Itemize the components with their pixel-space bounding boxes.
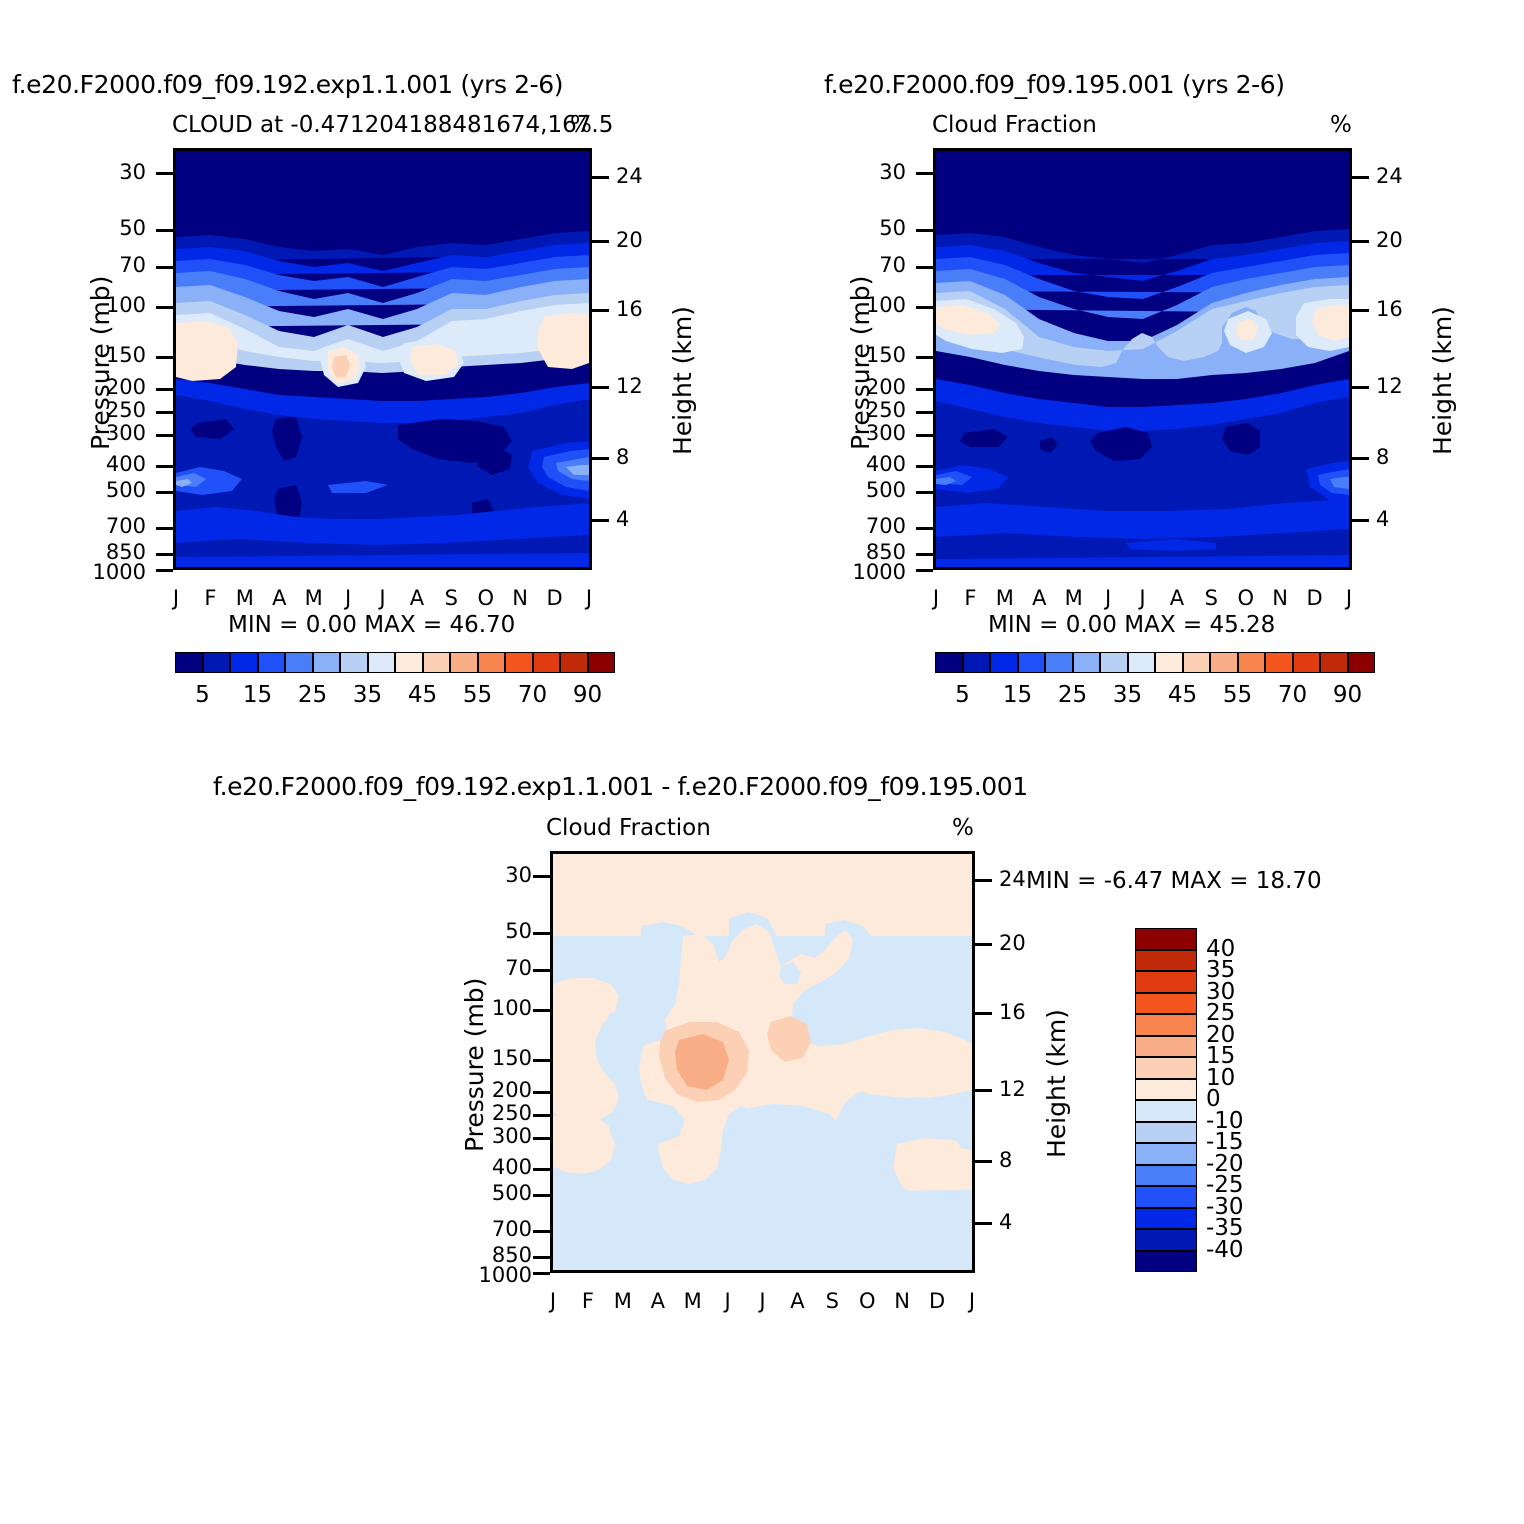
colorbar-swatch <box>1135 950 1197 972</box>
diff-plot-area <box>550 851 975 1273</box>
colorbar-swatch <box>313 652 341 673</box>
colorbar-swatch <box>423 652 451 673</box>
diff-panel-title: f.e20.F2000.f09_f09.192.exp1.1.001 - f.e… <box>213 772 1028 801</box>
month-label: S <box>818 1289 846 1313</box>
colorbar-swatch <box>1073 652 1101 673</box>
colorbar-tick-label: 25 <box>289 682 337 708</box>
left-y2label: Height (km) <box>668 306 697 455</box>
month-label: F <box>574 1289 602 1313</box>
colorbar-swatch <box>1128 652 1156 673</box>
colorbar-tick-label: 90 <box>1324 682 1372 708</box>
colorbar-swatch <box>1135 1036 1197 1058</box>
month-label: J <box>369 586 397 610</box>
colorbar-tick-label: -40 <box>1206 1237 1244 1263</box>
colorbar-tick-label: 15 <box>234 682 282 708</box>
month-label: N <box>888 1289 916 1313</box>
month-label: J <box>1129 586 1157 610</box>
colorbar-swatch <box>1135 1208 1197 1230</box>
colorbar-swatch <box>1320 652 1348 673</box>
diff-minmax: MIN = -6.47 MAX = 18.70 <box>1026 868 1322 894</box>
colorbar-swatch <box>1135 1186 1197 1208</box>
month-label: A <box>1025 586 1053 610</box>
month-label: M <box>679 1289 707 1313</box>
colorbar-swatch <box>1135 971 1197 993</box>
month-label: M <box>300 586 328 610</box>
month-label: A <box>403 586 431 610</box>
month-label: J <box>162 586 190 610</box>
left-panel-units: % <box>570 112 592 138</box>
month-label: J <box>958 1289 986 1313</box>
month-label: N <box>1266 586 1294 610</box>
right-panel-units: % <box>1330 112 1352 138</box>
colorbar-swatch <box>1155 652 1183 673</box>
colorbar-swatch <box>203 652 231 673</box>
colorbar-tick-label: 45 <box>1159 682 1207 708</box>
month-label: D <box>541 586 569 610</box>
colorbar-swatch <box>1135 1229 1197 1251</box>
colorbar-swatch <box>1238 652 1266 673</box>
colorbar-swatch <box>963 652 991 673</box>
colorbar-swatch <box>230 652 258 673</box>
colorbar-tick-label: 5 <box>179 682 227 708</box>
month-label: D <box>1301 586 1329 610</box>
colorbar-swatch <box>1135 1122 1197 1144</box>
month-label: A <box>783 1289 811 1313</box>
month-label: O <box>1232 586 1260 610</box>
diff-colorbar <box>1135 928 1197 1272</box>
colorbar-tick-label: 45 <box>399 682 447 708</box>
month-label: J <box>714 1289 742 1313</box>
colorbar-tick-label: 70 <box>1269 682 1317 708</box>
diff-panel-subtitle: Cloud Fraction <box>546 815 711 841</box>
colorbar-swatch <box>1135 1100 1197 1122</box>
month-label: O <box>853 1289 881 1313</box>
colorbar-swatch <box>1045 652 1073 673</box>
diff-panel-units: % <box>952 815 974 841</box>
left-colorbar <box>175 652 615 673</box>
left-minmax: MIN = 0.00 MAX = 46.70 <box>228 612 515 638</box>
colorbar-swatch <box>1135 993 1197 1015</box>
month-label: N <box>506 586 534 610</box>
colorbar-swatch <box>1135 1143 1197 1165</box>
colorbar-swatch <box>478 652 506 673</box>
colorbar-swatch <box>450 652 478 673</box>
colorbar-swatch <box>1265 652 1293 673</box>
colorbar-swatch <box>1135 1251 1197 1273</box>
colorbar-swatch <box>935 652 963 673</box>
colorbar-swatch <box>395 652 423 673</box>
colorbar-swatch <box>533 652 561 673</box>
right-panel-title: f.e20.F2000.f09_f09.195.001 (yrs 2-6) <box>824 70 1285 99</box>
month-label: J <box>539 1289 567 1313</box>
month-label: M <box>231 586 259 610</box>
month-label: J <box>334 586 362 610</box>
colorbar-swatch <box>1210 652 1238 673</box>
colorbar-swatch <box>1348 652 1376 673</box>
month-label: J <box>749 1289 777 1313</box>
colorbar-tick-label: 25 <box>1049 682 1097 708</box>
colorbar-swatch <box>175 652 203 673</box>
month-label: J <box>922 586 950 610</box>
colorbar-swatch <box>1135 1165 1197 1187</box>
month-label: J <box>1335 586 1363 610</box>
month-label: A <box>644 1289 672 1313</box>
colorbar-swatch <box>1135 1057 1197 1079</box>
month-label: A <box>1163 586 1191 610</box>
left-plot-area <box>173 148 592 570</box>
month-label: F <box>956 586 984 610</box>
colorbar-tick-label: 35 <box>344 682 392 708</box>
right-colorbar <box>935 652 1375 673</box>
colorbar-swatch <box>588 652 616 673</box>
month-label: A <box>265 586 293 610</box>
right-panel-subtitle: Cloud Fraction <box>932 112 1097 138</box>
right-minmax: MIN = 0.00 MAX = 45.28 <box>988 612 1275 638</box>
month-label: J <box>575 586 603 610</box>
colorbar-swatch <box>1293 652 1321 673</box>
month-label: J <box>1094 586 1122 610</box>
left-panel-title: f.e20.F2000.f09_f09.192.exp1.1.001 (yrs … <box>12 70 563 99</box>
left-panel-subtitle: CLOUD at -0.471204188481674,167.5 <box>172 112 613 138</box>
right-y2label: Height (km) <box>1428 306 1457 455</box>
month-label: M <box>991 586 1019 610</box>
colorbar-swatch <box>1135 1079 1197 1101</box>
right-plot-area <box>933 148 1352 570</box>
month-label: S <box>437 586 465 610</box>
month-label: M <box>609 1289 637 1313</box>
colorbar-swatch <box>1135 928 1197 950</box>
month-label: D <box>923 1289 951 1313</box>
diff-y2label: Height (km) <box>1042 1009 1071 1158</box>
colorbar-swatch <box>1018 652 1046 673</box>
colorbar-swatch <box>505 652 533 673</box>
colorbar-swatch <box>1183 652 1211 673</box>
colorbar-tick-label: 70 <box>509 682 557 708</box>
colorbar-tick-label: 15 <box>994 682 1042 708</box>
colorbar-swatch <box>340 652 368 673</box>
month-label: M <box>1060 586 1088 610</box>
colorbar-swatch <box>258 652 286 673</box>
colorbar-swatch <box>1100 652 1128 673</box>
colorbar-tick-label: 55 <box>454 682 502 708</box>
colorbar-tick-label: 5 <box>939 682 987 708</box>
month-label: F <box>196 586 224 610</box>
colorbar-swatch <box>368 652 396 673</box>
colorbar-swatch <box>560 652 588 673</box>
colorbar-tick-label: 90 <box>564 682 612 708</box>
month-label: O <box>472 586 500 610</box>
colorbar-tick-label: 35 <box>1104 682 1152 708</box>
month-label: S <box>1197 586 1225 610</box>
colorbar-swatch <box>990 652 1018 673</box>
colorbar-tick-label: 55 <box>1214 682 1262 708</box>
colorbar-swatch <box>285 652 313 673</box>
colorbar-swatch <box>1135 1014 1197 1036</box>
